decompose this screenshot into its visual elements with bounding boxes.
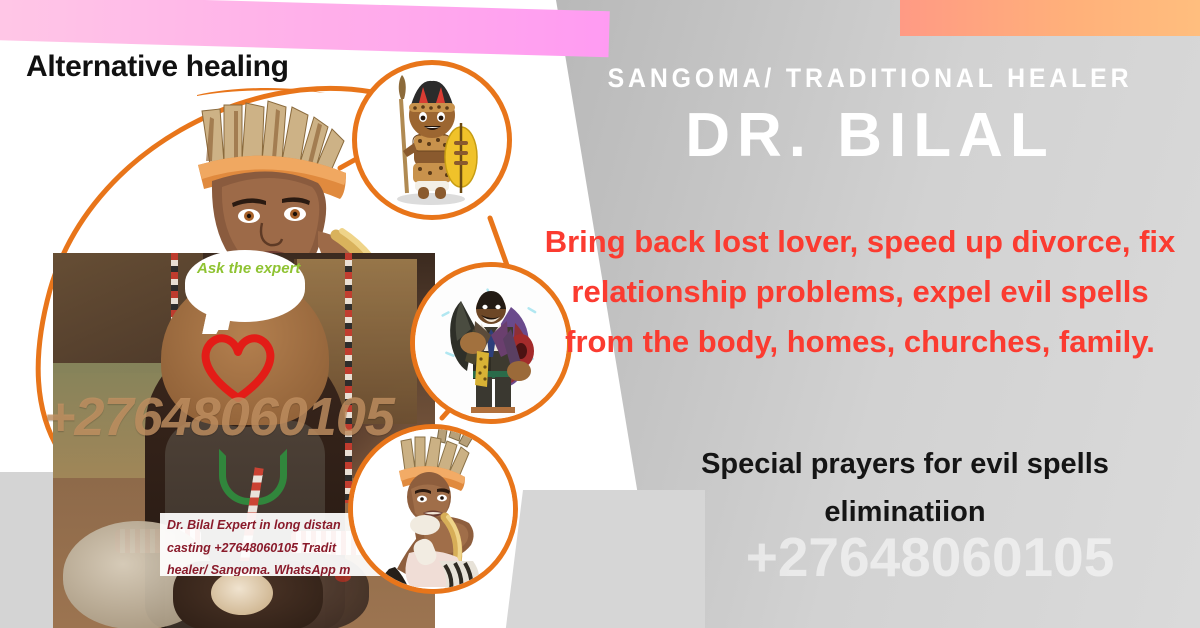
circle-cartoon-warrior [352, 60, 512, 220]
speech-bubble-label: Ask the expert [197, 258, 305, 279]
bead-strand-right [345, 253, 352, 503]
zulu-dancer-kneeling-icon [353, 429, 513, 589]
poster-canvas: Alternative healing [0, 0, 1200, 628]
subheading-text: Special prayers for evil spells eliminat… [620, 440, 1190, 536]
photo-phone-watermark: +27648060105 [44, 386, 394, 448]
page-title: Alternative healing [26, 50, 289, 84]
offering-object [211, 571, 273, 615]
top-orange-bar [900, 0, 1200, 36]
circle-zulu-dancer [348, 424, 518, 594]
services-text: Bring back lost lover, speed up divorce,… [540, 217, 1180, 367]
cartoon-zulu-warrior-icon [357, 65, 507, 215]
doctor-name: DR. BILAL [560, 100, 1180, 171]
top-pink-bar [0, 0, 610, 57]
kicker-text: SANGOMA/ TRADITIONAL HEALER [585, 63, 1155, 94]
phone-watermark: +27648060105 [660, 525, 1200, 589]
